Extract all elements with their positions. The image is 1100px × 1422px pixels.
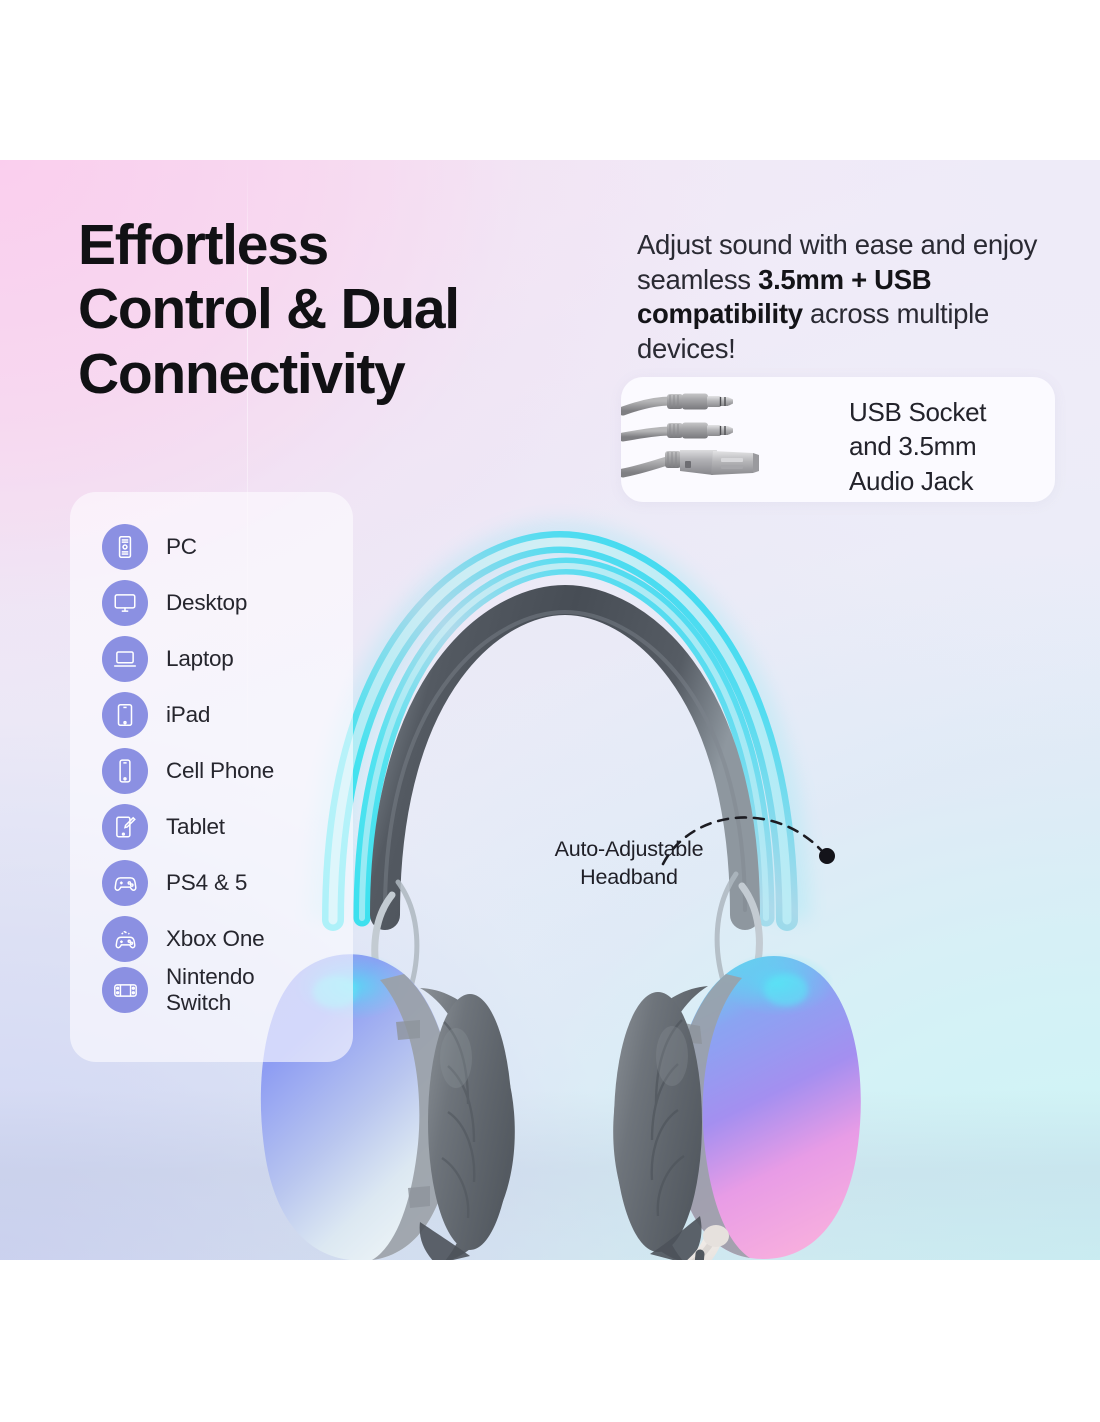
connector-caption-line-3: Audio Jack (849, 464, 1049, 498)
connector-caption-line-2: and 3.5mm (849, 429, 1049, 463)
ipad-icon (102, 692, 148, 738)
callout-line-1: Auto-Adjustable (529, 836, 729, 864)
device-row-playstation: PS4 & 5 (102, 860, 247, 906)
device-label-ipad: iPad (166, 702, 210, 728)
device-label-cell-phone: Cell Phone (166, 758, 274, 784)
device-row-xbox: Xbox One (102, 916, 264, 962)
usb-connector (623, 450, 759, 475)
device-label-nintendo-switch: Nintendo Switch (166, 964, 254, 1016)
intro-paragraph: Adjust sound with ease and enjoy seamles… (637, 228, 1055, 367)
connector-caption-line-1: USB Socket (849, 395, 1049, 429)
tablet-stylus-icon (102, 804, 148, 850)
pc-tower-icon (102, 524, 148, 570)
playstation-controller-icon (102, 860, 148, 906)
laptop-icon (102, 636, 148, 682)
headline-line-3: Connectivity (78, 342, 598, 406)
device-row-pc: PC (102, 524, 197, 570)
device-label-desktop: Desktop (166, 590, 247, 616)
connector-illustration (621, 377, 856, 502)
callout-line-2: Headband (529, 864, 729, 892)
audio-jack-top (623, 394, 733, 412)
xbox-controller-icon (102, 916, 148, 962)
device-row-tablet: Tablet (102, 804, 225, 850)
headline-line-1: Effortless (78, 213, 598, 277)
device-label-playstation: PS4 & 5 (166, 870, 247, 896)
headline-line-2: Control & Dual (78, 277, 598, 341)
device-row-desktop: Desktop (102, 580, 247, 626)
device-label-pc: PC (166, 534, 197, 560)
compatible-devices-card: PC Desktop Laptop (70, 492, 353, 1062)
device-row-cell-phone: Cell Phone (102, 748, 274, 794)
audio-jack-middle (623, 423, 733, 439)
page-title: Effortless Control & Dual Connectivity (78, 213, 598, 406)
nintendo-switch-icon (102, 967, 148, 1013)
device-label-tablet: Tablet (166, 814, 225, 840)
device-row-ipad: iPad (102, 692, 210, 738)
desktop-monitor-icon (102, 580, 148, 626)
connector-card: USB Socket and 3.5mm Audio Jack (621, 377, 1055, 502)
device-row-laptop: Laptop (102, 636, 234, 682)
connector-caption: USB Socket and 3.5mm Audio Jack (849, 395, 1049, 498)
device-label-laptop: Laptop (166, 646, 234, 672)
device-label-xbox: Xbox One (166, 926, 264, 952)
cell-phone-icon (102, 748, 148, 794)
product-infographic: Effortless Control & Dual Connectivity A… (0, 0, 1100, 1422)
auto-adjustable-headband-callout: Auto-Adjustable Headband (529, 836, 729, 892)
device-row-nintendo-switch: Nintendo Switch (102, 967, 254, 1013)
